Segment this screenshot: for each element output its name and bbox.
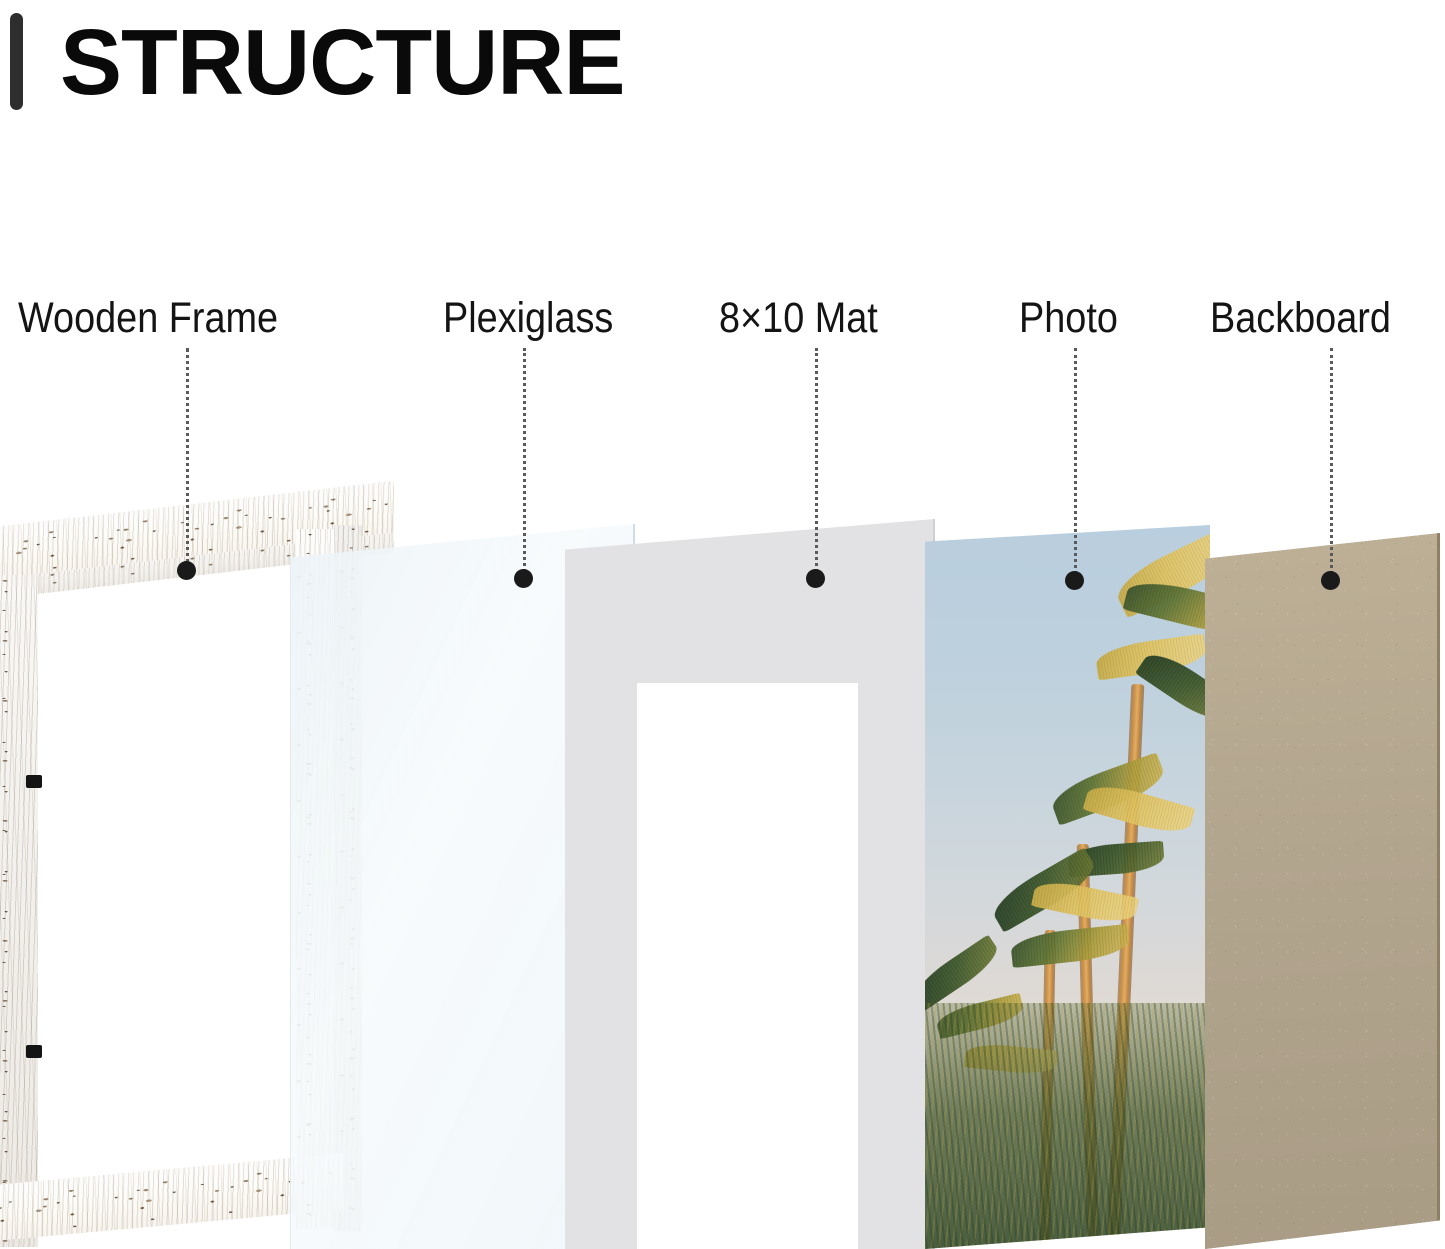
mat-board	[565, 519, 935, 1249]
frame-hardware-tab-top	[26, 775, 42, 788]
leader-line-mat	[815, 348, 818, 578]
leader-dot-wooden-frame	[177, 561, 196, 580]
layer-backboard	[1205, 533, 1440, 1249]
infographic-root: STRUCTURE Wooden Frame Plexiglass 8×10 M…	[0, 0, 1445, 1249]
label-wooden-frame: Wooden Frame	[18, 294, 278, 343]
layer-mat	[565, 519, 935, 1249]
frame-left-rail	[0, 575, 38, 1247]
title-accent-bar	[10, 13, 23, 110]
page-title: STRUCTURE	[60, 3, 625, 121]
label-mat: 8×10 Mat	[719, 294, 878, 343]
label-photo: Photo	[1019, 294, 1118, 343]
backboard-panel	[1205, 533, 1440, 1249]
mat-window-opening	[637, 683, 858, 1249]
label-plexiglass: Plexiglass	[443, 294, 613, 343]
photo-image	[925, 525, 1210, 1249]
frame-hardware-tab-bottom	[26, 1045, 42, 1058]
layer-photo	[925, 525, 1210, 1249]
leader-line-backboard	[1330, 348, 1333, 580]
leader-dot-photo	[1065, 571, 1084, 590]
leader-dot-mat	[806, 569, 825, 588]
leader-dot-backboard	[1321, 571, 1340, 590]
leader-dot-plexiglass	[514, 569, 533, 588]
leader-line-wooden-frame	[186, 348, 189, 570]
header: STRUCTURE	[0, 0, 1445, 130]
label-backboard: Backboard	[1210, 294, 1391, 343]
photo-foreground-foliage	[925, 1003, 1210, 1249]
leader-line-photo	[1074, 348, 1077, 580]
leader-line-plexiglass	[523, 348, 526, 578]
